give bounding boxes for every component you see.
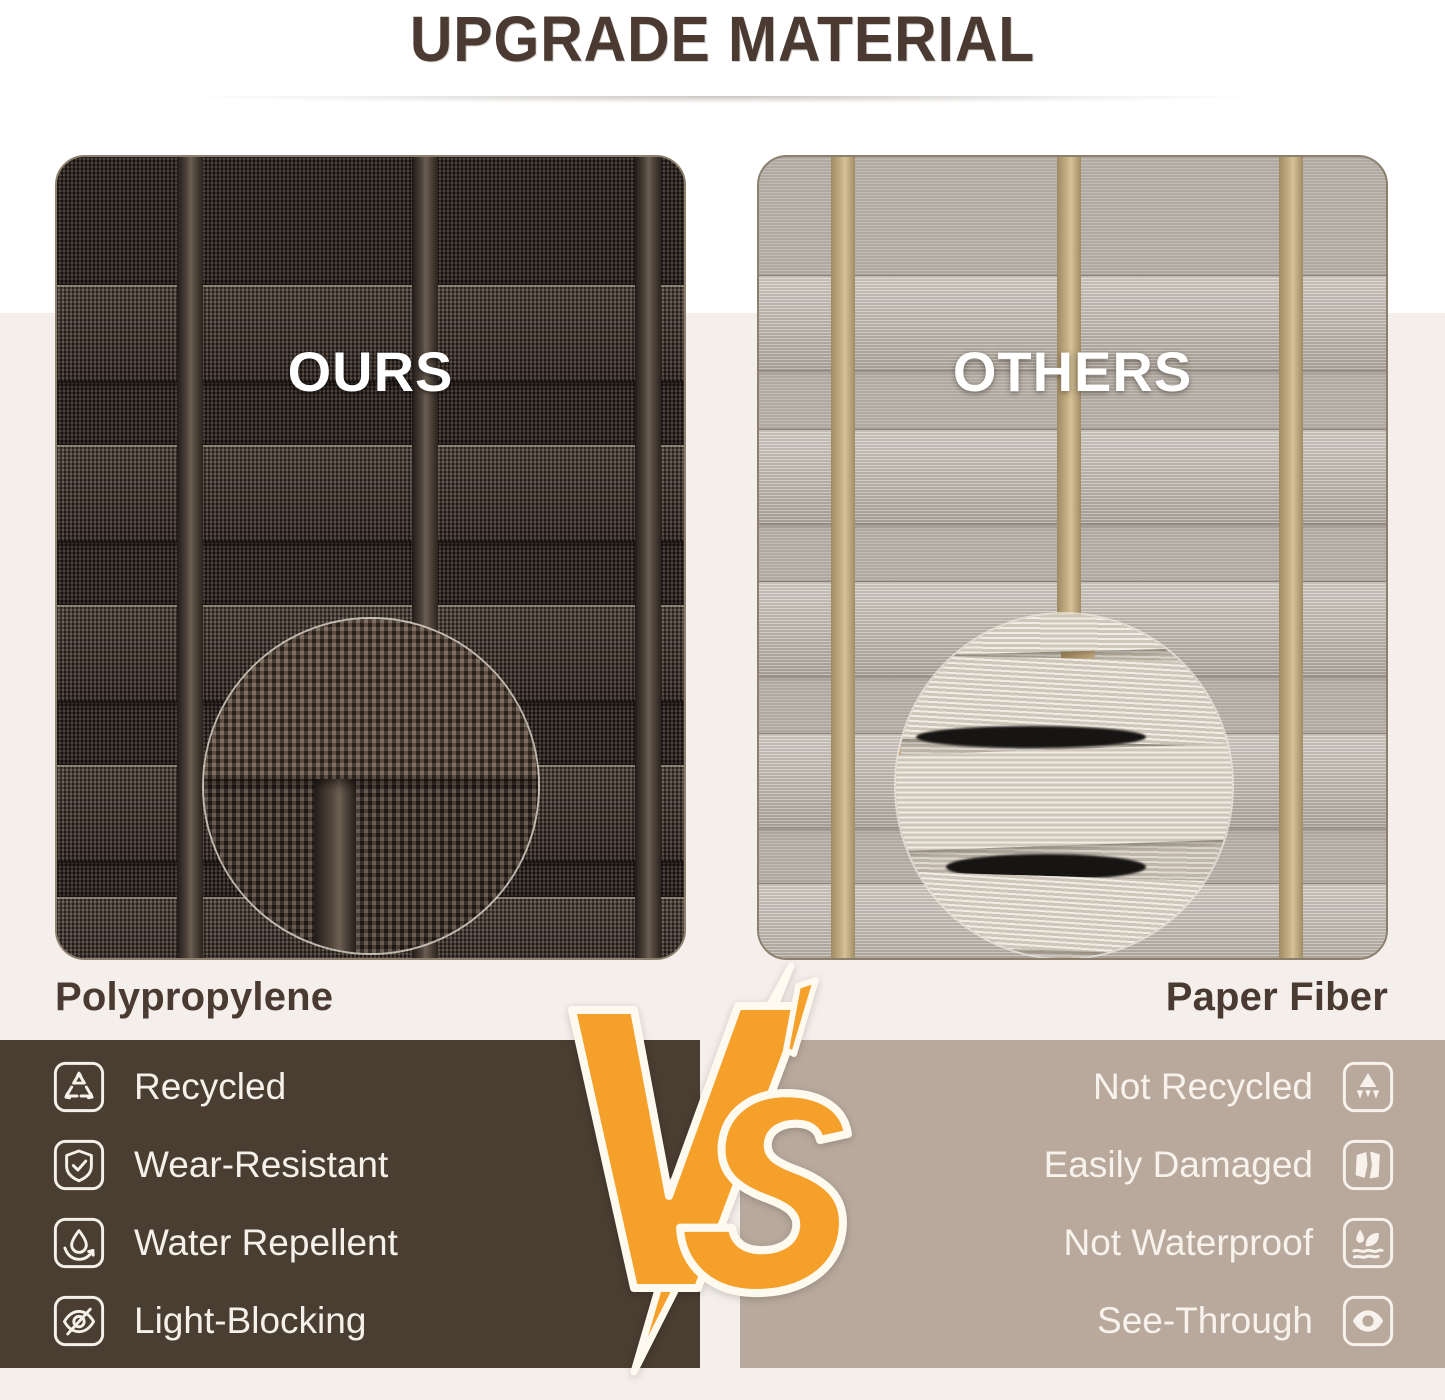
lightning-flick-shape (786, 980, 816, 1054)
ours-material-name: Polypropylene (55, 975, 333, 1020)
feature-label: See-Through (1097, 1300, 1313, 1342)
others-badge-label: OTHERS (759, 339, 1386, 404)
eye-open-icon (1341, 1294, 1395, 1348)
recycle-icon (52, 1060, 106, 1114)
water-splash-icon (1341, 1216, 1395, 1270)
feature-label: Not Waterproof (1064, 1222, 1314, 1264)
feature-label: Wear-Resistant (134, 1144, 388, 1186)
header-divider-shadow (40, 96, 1405, 112)
ours-badge-label: OURS (57, 339, 684, 404)
water-drop-repel-icon (52, 1216, 106, 1270)
shield-check-icon (52, 1138, 106, 1192)
feature-label: Not Recycled (1093, 1066, 1313, 1108)
torn-paper-icon (1341, 1138, 1395, 1192)
others-material-card: OTHERS (757, 155, 1388, 960)
feature-label: Easily Damaged (1044, 1144, 1313, 1186)
feature-label: Recycled (134, 1066, 286, 1108)
feature-label: Light-Blocking (134, 1300, 366, 1342)
eye-slash-icon (52, 1294, 106, 1348)
page-title: UPGRADE MATERIAL (58, 2, 1387, 76)
others-material-name: Paper Fiber (1166, 975, 1388, 1020)
vs-badge (548, 958, 888, 1378)
others-zoom-circle (894, 612, 1234, 960)
upgrade-material-infographic: UPGRADE MATERIAL OURS (0, 0, 1445, 1400)
ours-material-card: OURS (55, 155, 686, 960)
recycle-broken-icon (1341, 1060, 1395, 1114)
ours-zoom-circle (202, 617, 540, 955)
feature-label: Water Repellent (134, 1222, 398, 1264)
